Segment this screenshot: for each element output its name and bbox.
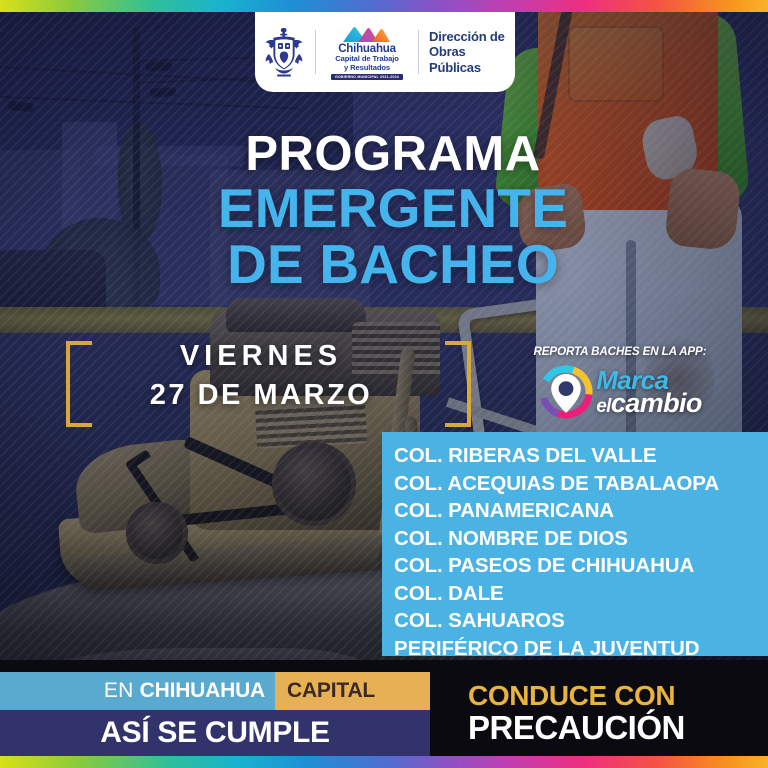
chihuahua-coat-of-arms-icon (261, 24, 307, 80)
footer-capital-label: CAPITAL (287, 679, 375, 703)
poster-root: Chihuahua Capital de Trabajo y Resultado… (0, 0, 768, 768)
app-name-line2: elcambio (596, 391, 702, 416)
department-line2: Obras Públicas (429, 44, 481, 74)
rainbow-strip-bottom (0, 756, 768, 768)
colony-item: PERIFÉRICO DE LA JUVENTUD (394, 635, 768, 663)
warning-line-2: PRECAUCIÓN (468, 711, 758, 744)
rainbow-strip-top (0, 0, 768, 12)
department-name: Dirección de Obras Públicas (429, 29, 515, 74)
colony-item: COL. ACEQUIAS DE TABALAOPA (394, 470, 768, 498)
brand-footnote: GOBIERNO MUNICIPAL 2021-2024 (331, 74, 403, 80)
header-logo-bar: Chihuahua Capital de Trabajo y Resultado… (255, 12, 515, 92)
colony-item: COL. SAHUAROS (394, 607, 768, 635)
department-line1: Dirección de (429, 29, 505, 44)
colony-item: COL. NOMBRE DE DIOS (394, 525, 768, 553)
colony-item: COL. PASEOS DE CHIHUAHUA (394, 552, 768, 580)
bracket-right (445, 341, 471, 427)
footer-slogan-row-bottom: ASÍ SE CUMPLE (0, 710, 430, 756)
warning-line-1: CONDUCE CON (468, 682, 758, 710)
title-line-3: DE BACHEO (0, 236, 768, 292)
footer-warning-block: CONDUCE CON PRECAUCIÓN (468, 682, 758, 744)
app-name: Marca elcambio (596, 369, 702, 416)
brand-tagline-line2: y Resultados (344, 63, 390, 72)
date-day-month: 27 DE MARZO (96, 379, 426, 412)
title-line-2: EMERGENTE (0, 180, 768, 236)
colonies-panel: COL. RIBERAS DEL VALLE COL. ACEQUIAS DE … (382, 432, 768, 656)
footer-en-chihuahua: EN CHIHUAHUA (0, 672, 275, 710)
app-promo-block: REPORTA BACHES EN LA APP: Marca elcambio (500, 345, 740, 420)
app-promo-lead: REPORTA BACHES EN LA APP: (500, 345, 740, 358)
app-name-el: el (596, 396, 611, 417)
footer-chihuahua-label: CHIHUAHUA (140, 679, 265, 703)
footer-slogan-label: ASÍ SE CUMPLE (100, 716, 329, 750)
worker-vest-pocket (568, 26, 664, 102)
street-lamp (150, 87, 177, 98)
pulley-wheel (272, 442, 356, 526)
chihuahua-brand-logo: Chihuahua Capital de Trabajo y Resultado… (324, 25, 410, 80)
date-weekday: VIERNES (96, 340, 426, 373)
poster-title: PROGRAMA EMERGENTE DE BACHEO (0, 130, 768, 292)
street-lamp (146, 61, 173, 72)
colony-item: COL. PANAMERICANA (394, 497, 768, 525)
location-pin-icon (538, 364, 594, 420)
compactor-engine-cover (226, 298, 366, 332)
title-line-1: PROGRAMA (0, 130, 768, 178)
brand-tagline: Capital de Trabajo y Resultados (335, 55, 399, 72)
footer-bar: EN CHIHUAHUA CAPITAL ASÍ SE CUMPLE CONDU… (0, 660, 768, 768)
footer-slogan-block: EN CHIHUAHUA CAPITAL ASÍ SE CUMPLE (0, 672, 430, 756)
event-date: VIERNES 27 DE MARZO (96, 340, 426, 412)
chihuahua-mountain-mark-icon (339, 25, 395, 43)
colony-item: COL. DALE (394, 580, 768, 608)
footer-slogan-row-top: EN CHIHUAHUA CAPITAL (0, 672, 430, 710)
bracket-left (66, 341, 92, 427)
logo-divider (315, 30, 316, 74)
pulley-wheel (126, 502, 188, 564)
footer-en-label: EN (104, 679, 134, 703)
logo-divider (418, 30, 419, 74)
app-name-cambio: cambio (611, 388, 702, 418)
footer-capital-chip: CAPITAL (275, 672, 430, 710)
marca-el-cambio-logo[interactable]: Marca elcambio (500, 364, 740, 420)
colony-item: COL. RIBERAS DEL VALLE (394, 442, 768, 470)
